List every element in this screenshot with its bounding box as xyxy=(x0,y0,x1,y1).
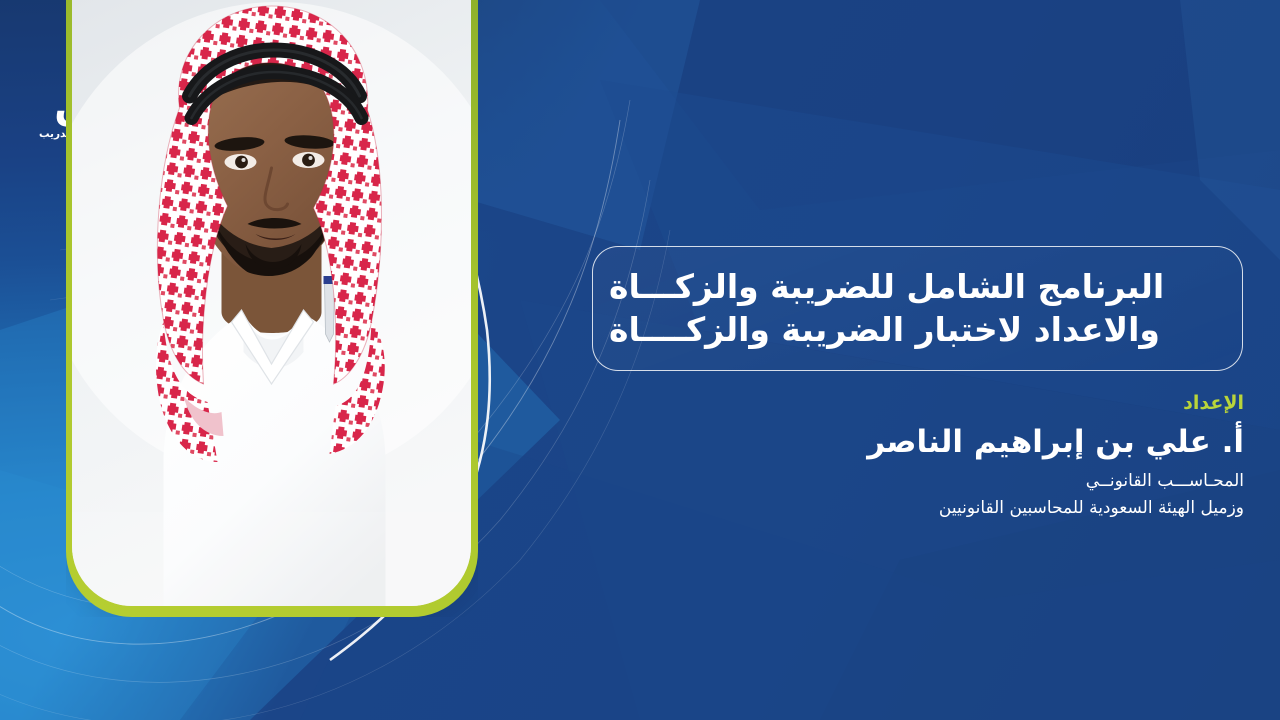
program-title-line-2: والاعداد لاختبار الضريبة والزكــــاة xyxy=(609,309,1160,352)
presentation-slide: تمكين مركز التمكين المالي للتدريب xyxy=(0,0,1280,720)
presenter-block: الإعداد أ. علي بن إبراهيم الناصر المحـاس… xyxy=(624,392,1244,522)
presenter-photo-frame xyxy=(66,0,478,617)
program-title-line-1: البرنامج الشامل للضريبة والزكـــاة xyxy=(609,266,1164,309)
presenter-role: المحـاســـب القانونــي xyxy=(624,469,1244,495)
presenter-name: أ. علي بن إبراهيم الناصر xyxy=(624,423,1244,462)
presenter-organization: وزميل الهيئة السعودية للمحاسبين القانوني… xyxy=(624,496,1244,522)
photo-clip-region xyxy=(72,0,471,606)
program-title-box: البرنامج الشامل للضريبة والزكـــاة والاع… xyxy=(592,246,1243,371)
presenter-label: الإعداد xyxy=(624,392,1244,416)
presenter-portrait-image xyxy=(72,0,471,606)
